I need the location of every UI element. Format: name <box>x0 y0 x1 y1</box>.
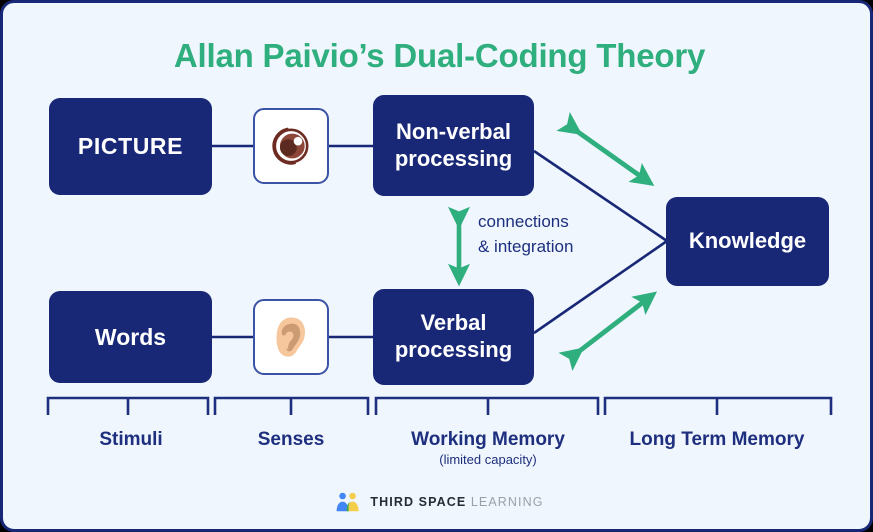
ear-icon <box>268 314 314 360</box>
stage-label-long-term-memory: Long Term Memory <box>601 429 833 451</box>
third-space-learning-logo-icon <box>335 492 361 512</box>
footer-branding: THIRD SPACE LEARNING <box>3 492 873 512</box>
bracket-working-memory <box>376 398 598 415</box>
eye-icon <box>268 123 314 169</box>
stage-label-working-memory: Working Memory (limited capacity) <box>377 429 599 467</box>
stage-label-long-term-memory-text: Long Term Memory <box>601 429 833 451</box>
box-verbal-line2: processing <box>395 337 512 362</box>
connections-line1: connections <box>478 212 569 231</box>
box-verbal-label: Verbal processing <box>395 310 512 364</box>
bracket-stimuli <box>48 398 208 415</box>
diagram-canvas: Allan Paivio’s Dual-Coding Theory <box>0 0 873 532</box>
footer-brand-bold: THIRD SPACE <box>370 495 466 509</box>
connections-line2: & integration <box>478 237 573 256</box>
stage-label-stimuli: Stimuli <box>41 429 221 451</box>
arrow-verbal-knowledge <box>573 300 646 356</box>
box-verbal-line1: Verbal <box>420 310 486 335</box>
stage-label-working-memory-text: Working Memory <box>377 429 599 451</box>
box-knowledge[interactable]: Knowledge <box>666 197 829 286</box>
footer-brand-text: THIRD SPACE LEARNING <box>370 495 543 509</box>
stage-label-senses: Senses <box>211 429 371 451</box>
box-words[interactable]: Words <box>49 291 212 383</box>
bracket-senses <box>215 398 368 415</box>
box-non-verbal-label: Non-verbal processing <box>395 119 512 173</box>
box-non-verbal-line2: processing <box>395 146 512 171</box>
connections-integration-label: connections & integration <box>478 210 658 259</box>
box-non-verbal-line1: Non-verbal <box>396 119 511 144</box>
sense-tile-sight[interactable] <box>253 108 329 184</box>
stage-sublabel-limited-capacity: (limited capacity) <box>377 452 599 467</box>
footer-brand-light: LEARNING <box>471 495 544 509</box>
stage-label-senses-text: Senses <box>211 429 371 451</box>
box-knowledge-label: Knowledge <box>689 228 806 255</box>
box-verbal-processing[interactable]: Verbal processing <box>373 289 534 385</box>
box-non-verbal-processing[interactable]: Non-verbal processing <box>373 95 534 196</box>
box-words-label: Words <box>95 323 166 351</box>
sense-tile-hearing[interactable] <box>253 299 329 375</box>
page-title: Allan Paivio’s Dual-Coding Theory <box>3 37 873 75</box>
box-picture-label: PICTURE <box>78 132 183 160</box>
bracket-long-term-memory <box>605 398 831 415</box>
arrow-nonverbal-knowledge <box>571 127 643 178</box>
stage-label-stimuli-text: Stimuli <box>41 429 221 451</box>
box-picture[interactable]: PICTURE <box>49 98 212 195</box>
